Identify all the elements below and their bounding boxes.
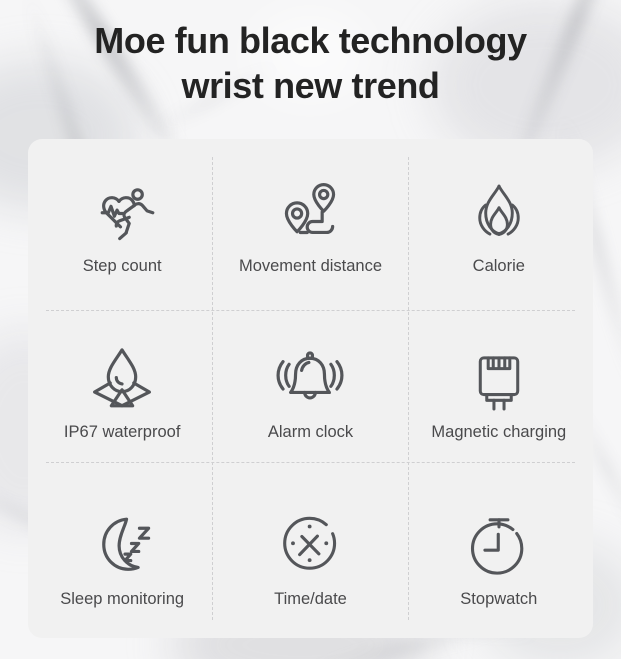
clock-face-icon: [273, 503, 347, 587]
feature-cell-time-date[interactable]: Time/date: [216, 472, 404, 638]
feature-cell-magnetic-charging[interactable]: Magnetic charging: [405, 305, 593, 471]
crescent-moon-zzz-icon: [84, 503, 160, 587]
feature-label: Time/date: [274, 591, 347, 608]
stopwatch-icon: [462, 503, 536, 587]
charging-plug-icon: [463, 336, 535, 420]
feature-grid-card: Step count Movement distance: [28, 139, 593, 638]
feature-label: IP67 waterproof: [64, 424, 180, 441]
water-droplet-icon: [84, 336, 160, 420]
feature-label: Magnetic charging: [431, 424, 566, 441]
feature-label: Movement distance: [239, 258, 382, 275]
ringing-bell-icon: [272, 336, 348, 420]
feature-label: Sleep monitoring: [60, 591, 184, 608]
feature-cell-stopwatch[interactable]: Stopwatch: [405, 472, 593, 638]
feature-cell-calorie[interactable]: Calorie: [405, 139, 593, 305]
page-title-line-1: Moe fun black technology: [0, 18, 621, 63]
running-heartbeat-icon: [84, 170, 160, 254]
feature-cell-movement-distance[interactable]: Movement distance: [216, 139, 404, 305]
route-map-pins-icon: [272, 170, 348, 254]
feature-label: Step count: [83, 258, 162, 275]
feature-cell-ip67-waterproof[interactable]: IP67 waterproof: [28, 305, 216, 471]
page-title-line-2: wrist new trend: [0, 63, 621, 108]
flame-icon: [464, 170, 534, 254]
page-title: Moe fun black technology wrist new trend: [0, 0, 621, 109]
feature-label: Stopwatch: [460, 591, 537, 608]
feature-label: Calorie: [473, 258, 525, 275]
feature-cell-step-count[interactable]: Step count: [28, 139, 216, 305]
feature-cell-alarm-clock[interactable]: Alarm clock: [216, 305, 404, 471]
feature-label: Alarm clock: [268, 424, 353, 441]
feature-cell-sleep-monitoring[interactable]: Sleep monitoring: [28, 472, 216, 638]
